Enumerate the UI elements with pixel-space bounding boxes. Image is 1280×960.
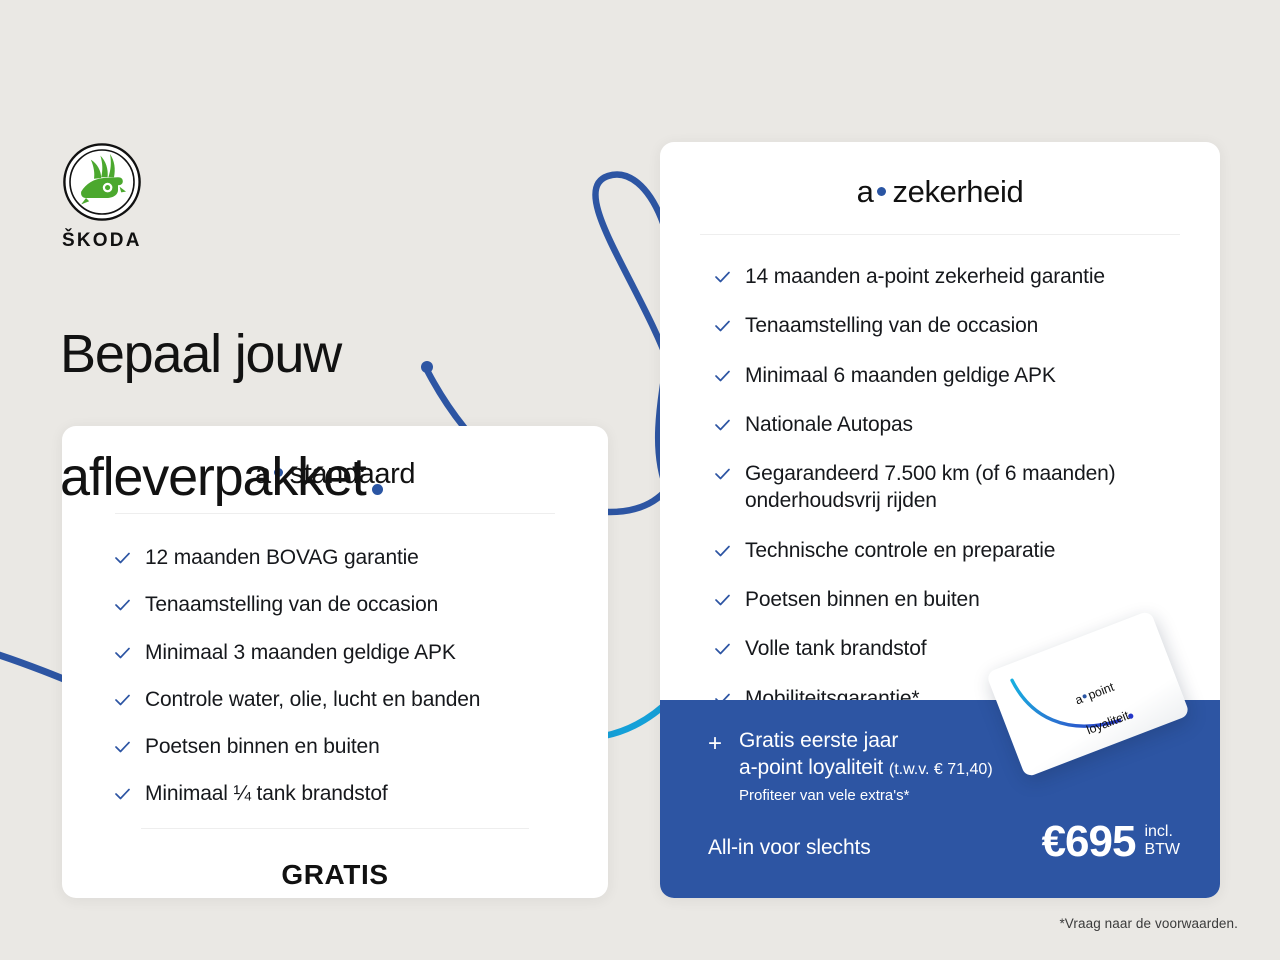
page-title: Bepaal jouw afleverpakket — [60, 262, 383, 508]
loyalty-point: point — [1086, 680, 1116, 703]
check-icon — [114, 786, 131, 803]
check-icon — [714, 269, 731, 286]
check-icon — [114, 597, 131, 614]
feature-list-standaard: 12 maanden BOVAG garantie Tenaamstelling… — [114, 544, 608, 808]
check-icon — [114, 645, 131, 662]
feature-text: 12 maanden BOVAG garantie — [145, 544, 419, 571]
footnote-text: *Vraag naar de voorwaarden. — [1059, 916, 1238, 931]
feature-text: Poetsen binnen en buiten — [145, 733, 380, 760]
feature-text: Minimaal 6 maanden geldige APK — [745, 362, 1056, 389]
card-title-dot-icon — [877, 187, 886, 196]
skoda-wordmark: ŠKODA — [62, 230, 142, 252]
list-item: 14 maanden a-point zekerheid garantie — [714, 263, 1220, 290]
feature-text: Volle tank brandstof — [745, 635, 926, 662]
headline-line-2: afleverpakket — [60, 447, 366, 507]
card-divider-bottom — [141, 828, 529, 829]
feature-text: Minimaal 3 maanden geldige APK — [145, 639, 456, 666]
feature-text: Tenaamstelling van de occasion — [745, 312, 1038, 339]
check-icon — [114, 550, 131, 567]
feature-text: Gegarandeerd 7.500 km (of 6 maanden) ond… — [745, 460, 1195, 515]
list-item: Poetsen binnen en buiten — [114, 733, 608, 760]
check-icon — [714, 417, 731, 434]
check-icon — [714, 466, 731, 483]
headline-dot-icon — [372, 484, 383, 495]
check-icon — [714, 368, 731, 385]
check-icon — [114, 692, 131, 709]
card-divider-top — [115, 513, 555, 514]
feature-text: 14 maanden a-point zekerheid garantie — [745, 263, 1105, 290]
loyalty-dot-icon — [1082, 694, 1087, 699]
check-icon — [714, 318, 731, 335]
card-divider-top — [700, 234, 1180, 235]
package-card-zekerheid[interactable]: azekerheid 14 maanden a-point zekerheid … — [660, 142, 1220, 898]
check-icon — [714, 641, 731, 658]
bonus-value: (t.w.v. € 71,40) — [889, 761, 993, 778]
list-item: Minimaal ¼ tank brandstof — [114, 780, 608, 807]
plus-icon: + — [708, 732, 722, 804]
check-icon — [114, 739, 131, 756]
list-item: 12 maanden BOVAG garantie — [114, 544, 608, 571]
feature-text: Controle water, olie, lucht en banden — [145, 686, 480, 713]
feature-text: Poetsen binnen en buiten — [745, 586, 980, 613]
list-item: Tenaamstelling van de occasion — [114, 591, 608, 618]
feature-text: Nationale Autopas — [745, 411, 913, 438]
bonus-product-name: a-point loyaliteit — [739, 756, 883, 779]
list-item: Technische controle en preparatie — [714, 537, 1220, 564]
card-title-prefix: a — [857, 174, 874, 209]
check-icon — [714, 592, 731, 609]
price-group: €695 incl. BTW — [1042, 820, 1180, 864]
list-item: Nationale Autopas — [714, 411, 1220, 438]
list-item: Controle water, olie, lucht en banden — [114, 686, 608, 713]
bonus-subtext: Profiteer van vele extra's* — [739, 787, 993, 804]
card-title-zekerheid: azekerheid — [660, 142, 1220, 210]
poster-canvas: ŠKODA Bepaal jouw afleverpakket astandaa… — [0, 0, 1280, 960]
bonus-line-2: a-point loyaliteit (t.w.v. € 71,40) — [739, 755, 993, 782]
card-title-text: zekerheid — [893, 174, 1024, 209]
price-label-standaard: GRATIS — [62, 859, 608, 891]
price-row: All-in voor slechts €695 incl. BTW — [708, 820, 1180, 864]
headline-line-1: Bepaal jouw — [60, 324, 341, 384]
bonus-text-group: Gratis eerste jaar a-point loyaliteit (t… — [739, 728, 993, 804]
brand-block: ŠKODA — [62, 142, 142, 252]
bonus-block: + Gratis eerste jaar a-point loyaliteit … — [708, 728, 993, 804]
allin-label: All-in voor slechts — [708, 836, 871, 864]
price-amount: €695 — [1042, 820, 1136, 864]
skoda-logo-icon — [62, 142, 142, 222]
list-item: Minimaal 3 maanden geldige APK — [114, 639, 608, 666]
feature-text: Tenaamstelling van de occasion — [145, 591, 438, 618]
bonus-line-1: Gratis eerste jaar — [739, 728, 993, 755]
feature-text: Minimaal ¼ tank brandstof — [145, 780, 388, 807]
price-tax-note: incl. BTW — [1144, 823, 1180, 862]
check-icon — [714, 543, 731, 560]
list-item: Gegarandeerd 7.500 km (of 6 maanden) ond… — [714, 460, 1220, 515]
list-item: Poetsen binnen en buiten — [714, 586, 1220, 613]
list-item: Minimaal 6 maanden geldige APK — [714, 362, 1220, 389]
list-item: Tenaamstelling van de occasion — [714, 312, 1220, 339]
feature-text: Technische controle en preparatie — [745, 537, 1055, 564]
